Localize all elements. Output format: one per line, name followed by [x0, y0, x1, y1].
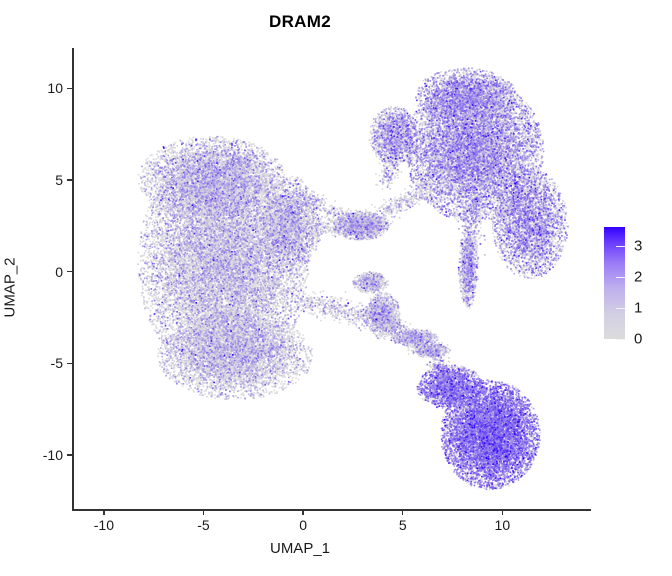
x-tick-label: -10	[94, 517, 114, 533]
colorbar-tick-mark	[616, 246, 625, 247]
y-tick-label: 10	[47, 80, 63, 96]
x-tick-label: 0	[299, 517, 307, 533]
colorbar-tick-mark	[616, 308, 625, 309]
x-tick-label: 10	[495, 517, 511, 533]
umap-scatter-canvas	[72, 48, 590, 510]
y-tick-mark	[67, 363, 72, 365]
y-tick-mark	[67, 88, 72, 90]
x-tick-mark	[402, 510, 404, 515]
chart-title: DRAM2	[0, 12, 600, 32]
y-tick-label: 0	[55, 264, 63, 280]
colorbar-tick-mark	[616, 339, 625, 340]
x-tick-mark	[103, 510, 105, 515]
y-axis-line	[72, 48, 74, 511]
x-axis-title: UMAP_1	[0, 540, 600, 557]
colorbar-tick-label: 3	[634, 237, 642, 254]
x-tick-label: -5	[197, 517, 209, 533]
y-tick-mark	[67, 179, 72, 181]
colorbar-gradient	[604, 227, 625, 339]
colorbar-tick-label: 2	[634, 268, 642, 285]
x-tick-mark	[302, 510, 304, 515]
y-tick-mark	[67, 454, 72, 456]
y-tick-label: 5	[55, 172, 63, 188]
x-tick-mark	[203, 510, 205, 515]
colorbar: 0123	[604, 227, 668, 339]
x-tick-label: 5	[399, 517, 407, 533]
x-tick-mark	[502, 510, 504, 515]
y-tick-label: -10	[43, 447, 63, 463]
colorbar-tick-label: 1	[634, 299, 642, 316]
colorbar-tick-label: 0	[634, 331, 642, 348]
y-axis-title: UMAP_2	[2, 188, 19, 388]
x-axis-line	[72, 509, 591, 511]
y-tick-mark	[67, 271, 72, 273]
colorbar-tick-mark	[616, 277, 625, 278]
y-tick-label: -5	[51, 355, 63, 371]
